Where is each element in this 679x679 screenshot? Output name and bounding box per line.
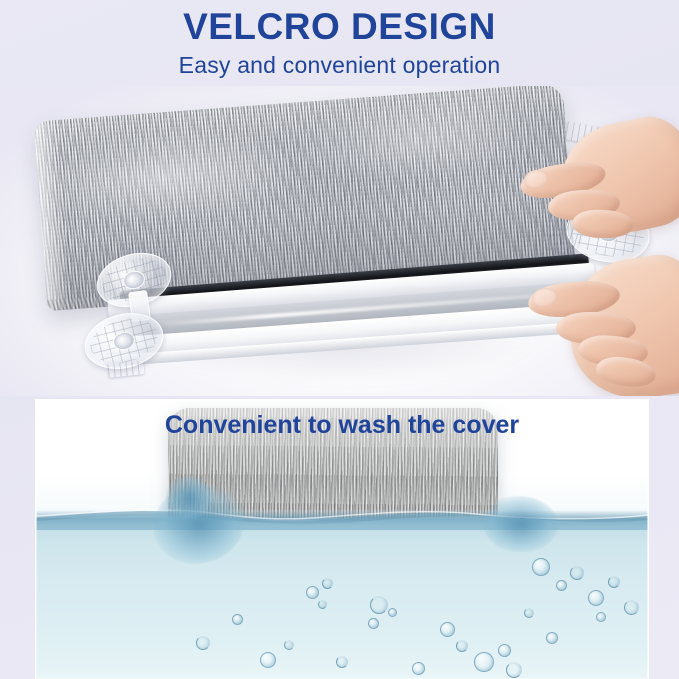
bubble [624,600,639,615]
bubble [532,558,550,576]
page-subtitle: Easy and convenient operation [0,50,679,80]
bubble [556,580,567,591]
bubble [546,632,558,644]
water-splash-left-crown [166,476,212,520]
velcro-attachment-photo [0,86,679,396]
bubble [322,578,333,589]
wash-panel: Convenient to wash the cover [36,400,648,679]
bubble [370,596,388,614]
bubble [498,644,511,657]
bubble [570,566,584,580]
water-splash-right [484,496,558,552]
bubble [388,608,397,617]
bubble [608,576,620,588]
bubble [524,608,534,618]
bubble [336,656,348,668]
bubble [412,662,425,675]
bubble [196,636,210,650]
bubble [474,652,494,672]
bubble [368,618,379,629]
bubble [456,640,468,652]
bubble [440,622,455,637]
header-block: VELCRO DESIGN Easy and convenient operat… [0,6,679,80]
bubble [588,590,604,606]
panel-header: Convenient to wash the cover [36,400,648,442]
panel-title: Convenient to wash the cover [36,408,648,442]
bubble [318,600,327,609]
bubble [284,640,294,650]
bubble [260,652,276,668]
bubble [506,662,522,678]
water-body [36,518,648,679]
bubble [306,586,319,599]
infographic-canvas: VELCRO DESIGN Easy and convenient operat… [0,0,679,679]
bubble [232,614,243,625]
bubble [596,612,606,622]
page-title: VELCRO DESIGN [0,6,679,48]
